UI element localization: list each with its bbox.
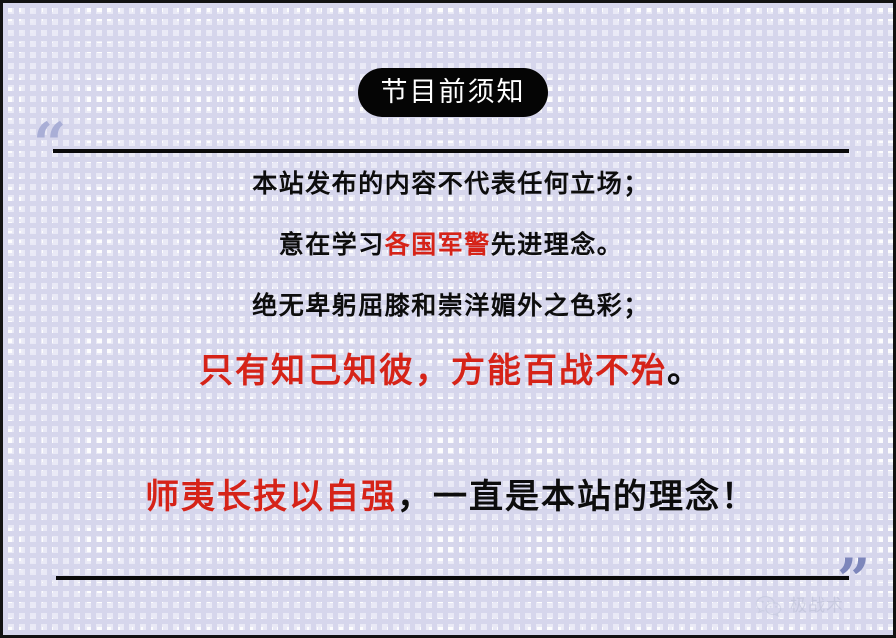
notice-line-2-text-a: 意在学习 — [279, 230, 385, 259]
notice-line-1: 本站发布的内容不代表任何立场； — [3, 171, 896, 196]
top-divider — [53, 149, 849, 153]
notice-card: 节目前须知 “ 本站发布的内容不代表任何立场； 意在学习各国军警先进理念。 绝无… — [0, 0, 896, 638]
page-title: 节目前须知 — [381, 79, 526, 106]
notice-body: 本站发布的内容不代表任何立场； 意在学习各国军警先进理念。 绝无卑躬屈膝和崇洋媚… — [3, 171, 896, 514]
watermark: 极战术 — [755, 595, 844, 617]
page-title-badge: 节目前须知 — [358, 68, 548, 117]
notice-line-4-highlight: 只有知己知彼，方能百战不殆 — [199, 351, 667, 391]
notice-line-5-highlight: 师夷长技以自强 — [145, 477, 397, 517]
notice-line-1-text: 本站发布的内容不代表任何立场； — [252, 169, 650, 198]
bottom-divider — [56, 576, 849, 580]
notice-line-3-text: 绝无卑躬屈膝和崇洋媚外之色彩； — [252, 291, 650, 320]
wechat-icon — [755, 595, 783, 617]
notice-line-5-text: ，一直是本站的理念！ — [397, 477, 757, 517]
opening-quote-icon: “ — [33, 115, 66, 173]
notice-line-2: 意在学习各国军警先进理念。 — [3, 232, 896, 257]
notice-line-4-punctuation: 。 — [667, 351, 703, 391]
notice-line-2-text-b: 先进理念。 — [491, 230, 624, 259]
notice-line-3: 绝无卑躬屈膝和崇洋媚外之色彩； — [3, 293, 896, 318]
notice-line-2-highlight: 各国军警 — [385, 230, 491, 259]
notice-line-4: 只有知己知彼，方能百战不殆。 — [3, 354, 896, 388]
watermark-text: 极战术 — [790, 598, 844, 615]
notice-line-5: 师夷长技以自强，一直是本站的理念！ — [3, 480, 896, 514]
